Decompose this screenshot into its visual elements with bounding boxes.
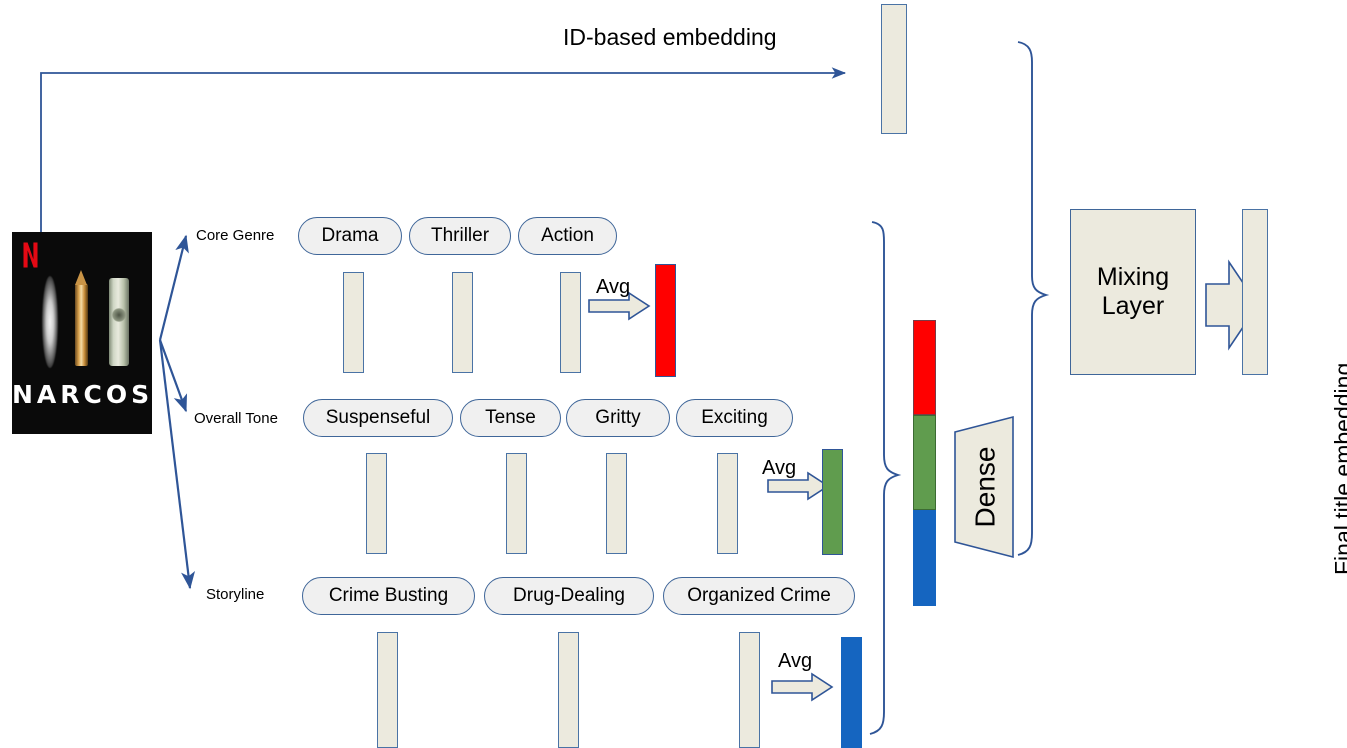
tag-pill-action[interactable]: Action: [518, 217, 617, 255]
poster-bullet-icon: [75, 284, 88, 366]
tag-pill-drug-dealing[interactable]: Drug-Dealing: [484, 577, 654, 615]
averaged-vector-core-genre: [655, 264, 676, 377]
tag-pill-exciting[interactable]: Exciting: [676, 399, 793, 437]
brace-features: [870, 222, 898, 734]
dense-layer-label: Dense: [969, 447, 1001, 528]
tag-pill-tense[interactable]: Tense: [460, 399, 561, 437]
averaged-vector-storyline: [841, 637, 862, 748]
branch-label-overall-tone: Overall Tone: [194, 410, 278, 427]
averaged-vector-overall-tone: [822, 449, 843, 555]
dense-layer[interactable]: Dense: [952, 417, 1018, 557]
tag-vector-drama: [343, 272, 364, 373]
embedding-segment-storyline: [913, 510, 936, 606]
tag-pill-drama[interactable]: Drama: [298, 217, 402, 255]
branch-label-core-genre: Core Genre: [196, 227, 274, 244]
mixing-layer-box[interactable]: Mixing Layer: [1070, 209, 1196, 375]
avg-label-storyline: Avg: [778, 650, 812, 673]
diagram-canvas: NARCOS ID-based embedding Core Genre Ove…: [0, 0, 1347, 748]
branch-arrow-storyline: [160, 340, 190, 588]
tag-vector-gritty: [606, 453, 627, 554]
tag-pill-crime-busting[interactable]: Crime Busting: [302, 577, 475, 615]
avg-label-overall-tone: Avg: [762, 457, 796, 480]
tag-vector-action: [560, 272, 581, 373]
tag-vector-exciting: [717, 453, 738, 554]
tag-pill-thriller[interactable]: Thriller: [409, 217, 511, 255]
embedding-segment-core-genre: [913, 320, 936, 415]
poster-title: NARCOS: [12, 380, 152, 409]
tag-vector-organized-crime: [739, 632, 760, 748]
tag-pill-organized-crime[interactable]: Organized Crime: [663, 577, 855, 615]
branch-label-storyline: Storyline: [206, 586, 264, 603]
tag-pill-gritty[interactable]: Gritty: [566, 399, 670, 437]
poster-artwork: [12, 272, 152, 372]
poster-money-icon: [109, 278, 129, 366]
id-embedding-label: ID-based embedding: [563, 24, 777, 51]
branch-arrow-core-genre: [160, 236, 186, 340]
mixing-layer-label-line2: Layer: [1097, 292, 1169, 322]
brace-mixing-inputs: [1018, 42, 1046, 555]
final-title-embedding-label: Final title embedding: [1330, 363, 1347, 575]
mixing-layer-label-wrap: Mixing Layer: [1097, 263, 1169, 322]
id-embedding-vector: [881, 4, 907, 134]
dense-layer-label-wrap: Dense: [952, 417, 1018, 557]
tag-vector-suspenseful: [366, 453, 387, 554]
tag-vector-tense: [506, 453, 527, 554]
avg-arrow-storyline: [772, 674, 832, 700]
embedding-segment-overall-tone: [913, 415, 936, 510]
poster-powder-icon: [42, 276, 58, 368]
mixing-layer-label-line1: Mixing: [1097, 263, 1169, 293]
netflix-logo-icon: [23, 242, 38, 268]
tag-pill-suspenseful[interactable]: Suspenseful: [303, 399, 453, 437]
id-embedding-connector: [41, 73, 845, 232]
tag-vector-thriller: [452, 272, 473, 373]
branch-arrow-overall-tone: [160, 340, 186, 411]
avg-label-core-genre: Avg: [596, 276, 630, 299]
tag-vector-crime-busting: [377, 632, 398, 748]
title-poster[interactable]: NARCOS: [12, 232, 152, 434]
concatenated-embedding: [913, 320, 936, 606]
tag-vector-drug-dealing: [558, 632, 579, 748]
final-title-embedding-vector: [1242, 209, 1268, 375]
